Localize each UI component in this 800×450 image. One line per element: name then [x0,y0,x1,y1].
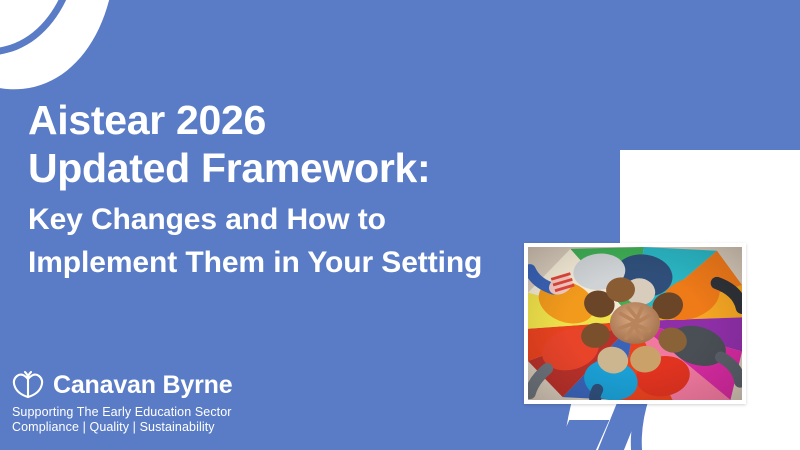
logo-tagline-2: Compliance | Quality | Sustainability [12,420,232,435]
photo-children-circle [528,247,742,400]
subtitle-block: Key Changes and How to Implement Them in… [28,198,548,284]
photo-frame [524,243,746,404]
headline-line-1: Aistear 2026 [28,96,548,144]
subtitle-line-1: Key Changes and How to [28,198,548,241]
logo-lockup: Canavan Byrne Supporting The Early Educa… [12,370,232,434]
slide-canvas: Aistear 2026 Updated Framework: Key Chan… [0,0,800,450]
photo-vignette [528,247,742,400]
butterfly-icon [12,370,46,400]
logo-wordmark: Canavan Byrne [53,373,232,398]
headline-block: Aistear 2026 Updated Framework: Key Chan… [28,96,548,284]
decor-bottom-wedge-secondary [543,420,610,450]
logo-tagline-1: Supporting The Early Education Sector [12,405,232,420]
subtitle-line-2: Implement Them in Your Setting [28,241,548,284]
decor-topleft-arc [0,0,114,80]
logo-primary-row: Canavan Byrne [12,370,232,400]
headline-line-2: Updated Framework: [28,144,548,192]
